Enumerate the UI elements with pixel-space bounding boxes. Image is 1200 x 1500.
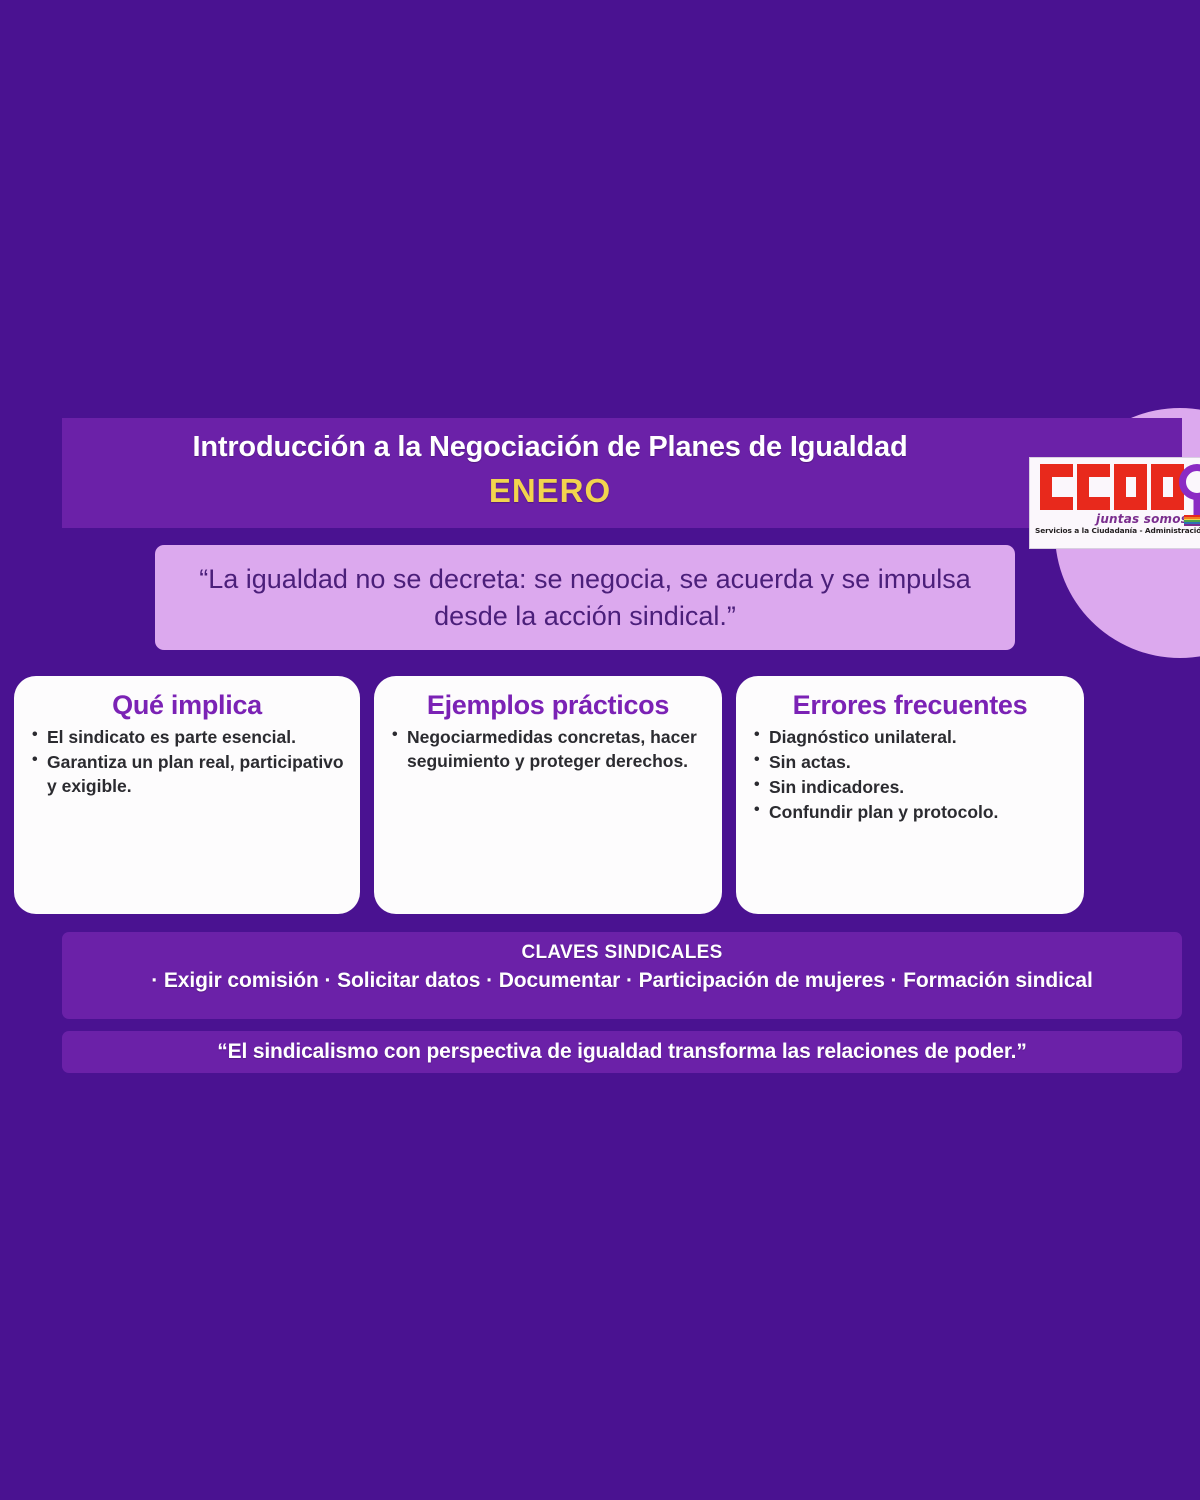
letter-o-icon (1114, 464, 1147, 510)
list-item: Confundir plan y protocolo. (752, 800, 1068, 824)
card-bullet-list: El sindicato es parte esencial. Garantiz… (30, 725, 344, 799)
card-title: Errores frecuentes (752, 690, 1068, 721)
header-banner: Introducción a la Negociación de Planes … (62, 418, 1182, 528)
closing-quote-bar: “El sindicalismo con perspectiva de igua… (62, 1031, 1182, 1073)
card-bullet-list: Negociarmedidas concretas, hacer seguimi… (390, 725, 706, 774)
cards-row: Qué implica El sindicato es parte esenci… (14, 676, 1088, 914)
card-title: Qué implica (30, 690, 344, 721)
quote-text: “La igualdad no se decreta: se negocia, … (155, 561, 1015, 634)
logo-caption: Servicios a la Ciudadanía - Administraci… (1035, 526, 1200, 535)
letter-c-icon (1040, 464, 1073, 510)
claves-title: CLAVES SINDICALES (62, 942, 1182, 964)
infographic-canvas: Introducción a la Negociación de Planes … (0, 0, 1200, 1500)
list-item: Diagnóstico unilateral. (752, 725, 1068, 749)
month-label: ENERO (70, 472, 1030, 510)
ccoo-logo: juntas somos Servicios a la Ciudadanía -… (1029, 457, 1200, 549)
card-que-implica: Qué implica El sindicato es parte esenci… (14, 676, 360, 914)
list-item: Sin indicadores. (752, 775, 1068, 799)
logo-wordmark: juntas somos (1036, 462, 1200, 512)
list-item: Sin actas. (752, 750, 1068, 774)
page-title: Introducción a la Negociación de Planes … (70, 431, 1030, 464)
list-item: El sindicato es parte esencial. (30, 725, 344, 749)
card-ejemplos-practicos: Ejemplos prácticos Negociarmedidas concr… (374, 676, 722, 914)
ccoo-letters-icon (1040, 464, 1184, 510)
rainbow-bar-icon (1184, 515, 1200, 526)
quote-box: “La igualdad no se decreta: se negocia, … (155, 545, 1015, 650)
list-item: Garantiza un plan real, participativo y … (30, 750, 344, 798)
card-bullet-list: Diagnóstico unilateral. Sin actas. Sin i… (752, 725, 1068, 826)
claves-list: · Exigir comisión · Solicitar datos · Do… (62, 969, 1182, 993)
letter-c-icon (1077, 464, 1110, 510)
card-title: Ejemplos prácticos (390, 690, 706, 721)
logo-tagline: juntas somos (1096, 512, 1188, 526)
card-errores-frecuentes: Errores frecuentes Diagnóstico unilatera… (736, 676, 1084, 914)
closing-quote-text: “El sindicalismo con perspectiva de igua… (217, 1040, 1026, 1064)
list-item: Negociarmedidas concretas, hacer seguimi… (390, 725, 706, 773)
claves-sindicales-bar: CLAVES SINDICALES · Exigir comisión · So… (62, 932, 1182, 1019)
